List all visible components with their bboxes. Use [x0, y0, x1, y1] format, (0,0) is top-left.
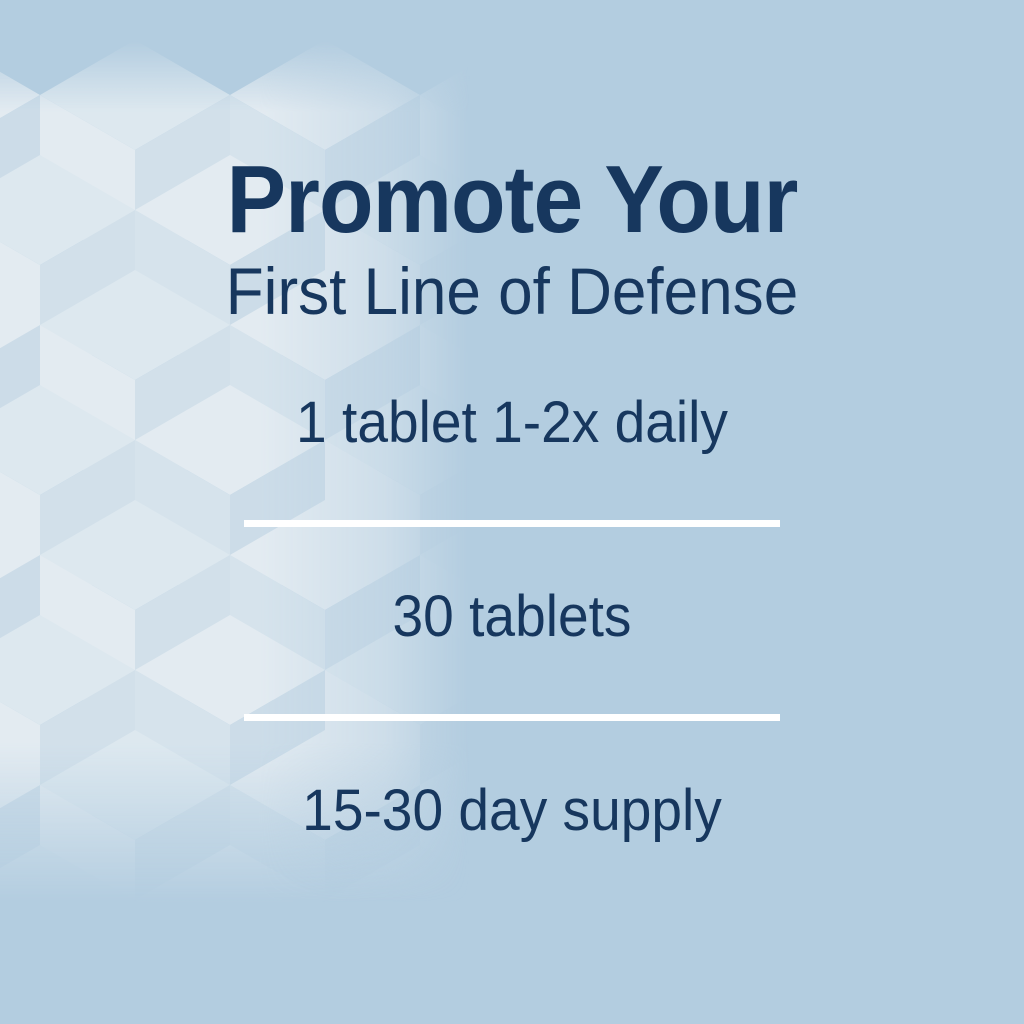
- poster-content: Promote Your First Line of Defense 1 tab…: [0, 0, 1024, 1024]
- fact-dosage: 1 tablet 1-2x daily: [26, 394, 999, 452]
- page-subtitle: First Line of Defense: [31, 258, 994, 324]
- product-info-poster: Promote Your First Line of Defense 1 tab…: [0, 0, 1024, 1024]
- divider-rule-2: [244, 714, 780, 721]
- divider-rule-1: [244, 520, 780, 527]
- page-title: Promote Your: [36, 152, 988, 248]
- fact-supply-duration: 15-30 day supply: [26, 782, 999, 840]
- fact-tablet-count: 30 tablets: [26, 588, 999, 646]
